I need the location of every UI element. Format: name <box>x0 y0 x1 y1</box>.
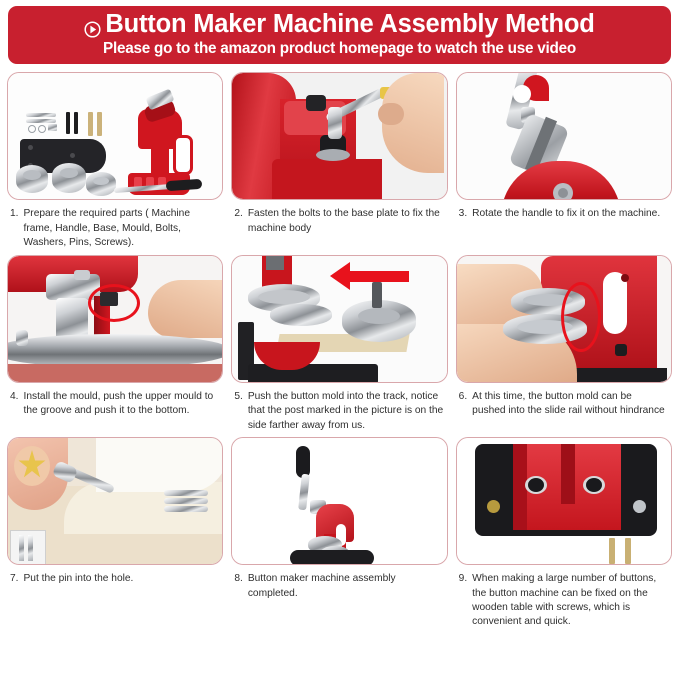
step-number-4: 4. <box>10 390 19 404</box>
header-banner: Button Maker Machine Assembly Method Ple… <box>8 6 671 64</box>
step-caption-8: 8. Button maker machine assembly complet… <box>231 565 447 605</box>
step-card-5: 5. Push the button mold into the track, … <box>231 255 447 437</box>
step-number-7: 7. <box>10 572 19 586</box>
step-caption-3: 3. Rotate the handle to fix it on the ma… <box>456 200 672 225</box>
banner-subtitle: Please go to the amazon product homepage… <box>18 40 661 58</box>
step-caption-2: 2. Fasten the bolts to the base plate to… <box>231 200 447 240</box>
annotation-red-circle <box>561 282 601 352</box>
step-text-9: When making a large number of buttons, t… <box>472 572 668 630</box>
step-card-6: 6. At this time, the button mold can be … <box>456 255 672 437</box>
step-number-9: 9. <box>459 572 468 586</box>
inset-thumbnail-pin <box>10 530 46 564</box>
step-photo-8 <box>231 437 447 565</box>
assembly-steps-grid: 1. Prepare the required parts ( Machine … <box>7 72 672 634</box>
step-card-3: 3. Rotate the handle to fix it on the ma… <box>456 72 672 254</box>
step-photo-4 <box>7 255 223 383</box>
step-text-7: Put the pin into the hole. <box>24 572 220 586</box>
step-card-4: 4. Install the mould, push the upper mou… <box>7 255 223 437</box>
step-photo-7 <box>7 437 223 565</box>
photo-scene-pin-into-hole <box>8 438 222 564</box>
photo-scene-install-mould <box>8 256 222 382</box>
step-caption-5: 5. Push the button mold into the track, … <box>231 383 447 437</box>
step-photo-5 <box>231 255 447 383</box>
page-title: Button Maker Machine Assembly Method <box>105 11 594 39</box>
step-text-8: Button maker machine assembly completed. <box>248 572 444 601</box>
annotation-red-circle <box>88 284 140 322</box>
step-text-6: At this time, the button mold can be pus… <box>472 390 668 419</box>
step-card-1: 1. Prepare the required parts ( Machine … <box>7 72 223 254</box>
step-card-9: 9. When making a large number of buttons… <box>456 437 672 634</box>
banner-title-row: Button Maker Machine Assembly Method <box>18 11 661 39</box>
step-card-8: 8. Button maker machine assembly complet… <box>231 437 447 634</box>
step-caption-1: 1. Prepare the required parts ( Machine … <box>7 200 223 254</box>
step-number-1: 1. <box>10 207 19 221</box>
photo-scene-slide-rail <box>457 256 671 382</box>
step-text-1: Prepare the required parts ( Machine fra… <box>24 207 220 250</box>
step-number-2: 2. <box>234 207 243 221</box>
step-text-4: Install the mould, push the upper mould … <box>24 390 220 419</box>
photo-scene-rotate-handle <box>457 73 671 199</box>
step-text-2: Fasten the bolts to the base plate to fi… <box>248 207 444 236</box>
step-photo-2 <box>231 72 447 200</box>
photo-scene-fasten-bolts <box>232 73 446 199</box>
step-number-6: 6. <box>459 390 468 404</box>
photo-scene-push-mold-track <box>232 256 446 382</box>
photo-scene-assembled-machine <box>232 438 446 564</box>
photo-scene-base-with-screws <box>457 438 671 564</box>
step-photo-1 <box>7 72 223 200</box>
step-card-2: 2. Fasten the bolts to the base plate to… <box>231 72 447 254</box>
play-circle-icon <box>84 17 101 34</box>
step-card-7: 7. Put the pin into the hole. <box>7 437 223 634</box>
step-text-3: Rotate the handle to fix it on the machi… <box>472 207 668 221</box>
step-number-3: 3. <box>459 207 468 221</box>
step-caption-4: 4. Install the mould, push the upper mou… <box>7 383 223 423</box>
step-caption-7: 7. Put the pin into the hole. <box>7 565 223 590</box>
step-number-8: 8. <box>234 572 243 586</box>
step-photo-6 <box>456 255 672 383</box>
step-photo-9 <box>456 437 672 565</box>
step-text-5: Push the button mold into the track, not… <box>248 390 444 433</box>
step-photo-3 <box>456 72 672 200</box>
photo-scene-parts <box>8 73 222 199</box>
step-caption-6: 6. At this time, the button mold can be … <box>456 383 672 423</box>
step-number-5: 5. <box>234 390 243 404</box>
step-caption-9: 9. When making a large number of buttons… <box>456 565 672 634</box>
annotation-red-left-arrow <box>330 262 410 290</box>
